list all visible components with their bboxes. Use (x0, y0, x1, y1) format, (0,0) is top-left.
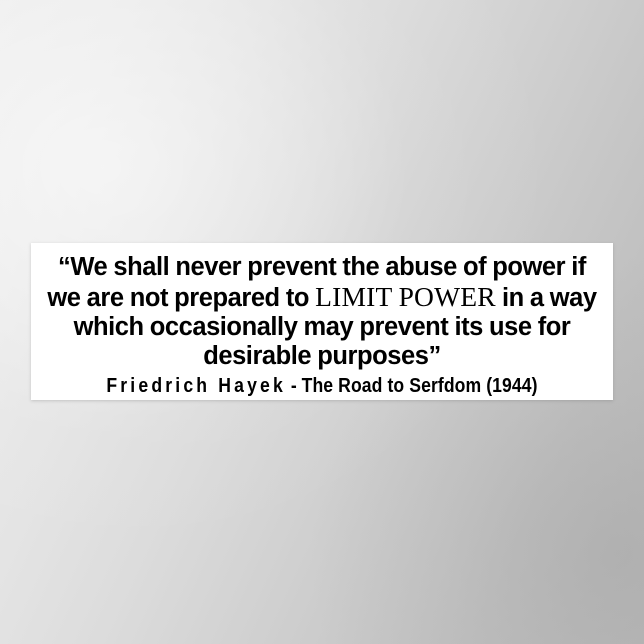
quote-card: “We shall never prevent the abuse of pow… (31, 243, 613, 400)
attribution: Friedrich Hayek - The Road to Serfdom (1… (71, 375, 573, 398)
attribution-author: Friedrich Hayek (106, 375, 286, 397)
quote-text: “We shall never prevent the abuse of pow… (37, 253, 607, 371)
attribution-source: The Road to Serfdom (1944) (302, 375, 538, 397)
quote-emphasis-limit-power: LIMIT POWER (315, 281, 496, 312)
poster-canvas: “We shall never prevent the abuse of pow… (0, 0, 644, 644)
attribution-separator: - (286, 375, 302, 397)
